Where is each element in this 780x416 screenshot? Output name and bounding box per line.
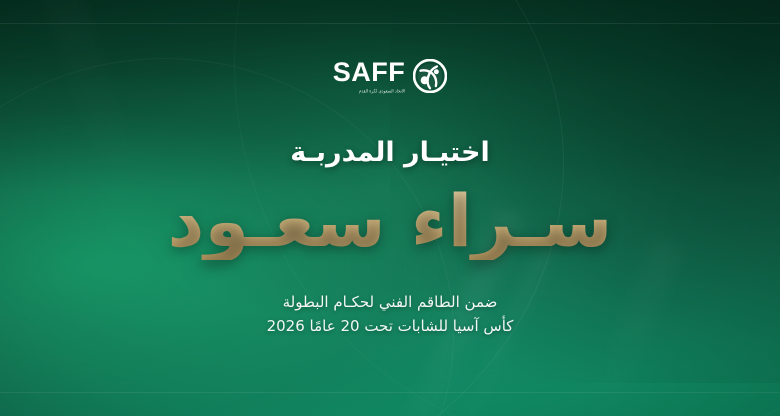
saff-logo: SAFF الاتحاد السعودي لكرة القدم [333,55,448,97]
saff-arabic-subtitle: الاتحاد السعودي لكرة القدم [359,89,405,94]
caption-line-2: كأس آسيا للشابات تحت 20 عامًا 2026 [267,314,514,338]
caption-block: ضمن الطاقم الفني لحكـام البطولة كأس آسيا… [267,290,514,339]
announcement-card: SAFF الاتحاد السعودي لكرة القدم اختيـار … [0,0,780,416]
caption-line-1: ضمن الطاقم الفني لحكـام البطولة [267,290,514,314]
headline-name: سـراء سعـود [168,184,613,260]
eyebrow-text: اختيـار المدربـة [290,137,489,168]
saff-globe-football-icon [413,59,447,93]
saff-logo-text: SAFF الاتحاد السعودي لكرة القدم [333,59,406,93]
card-content: SAFF الاتحاد السعودي لكرة القدم اختيـار … [0,0,780,416]
saff-wordmark: SAFF [333,59,406,86]
